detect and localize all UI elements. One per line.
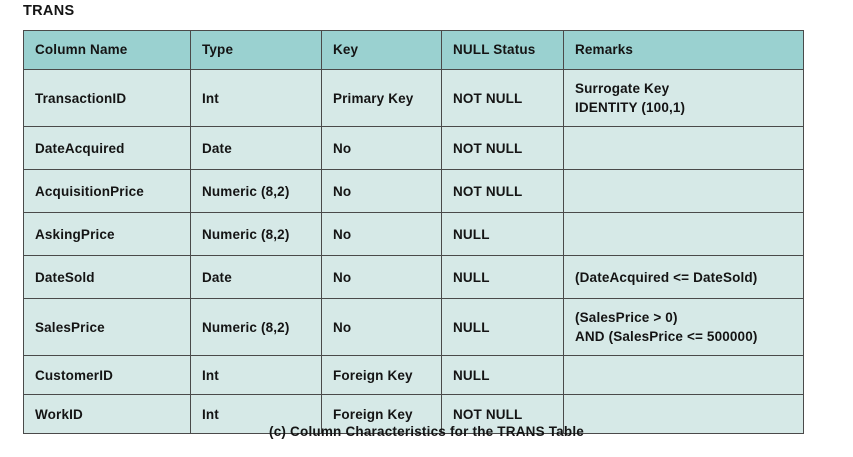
cell-column-name: CustomerID	[24, 356, 191, 395]
table-row: CustomerID Int Foreign Key NULL	[24, 356, 804, 395]
cell-type: Numeric (8,2)	[191, 213, 322, 256]
cell-type: Numeric (8,2)	[191, 299, 322, 356]
remark-line-1: Surrogate Key	[575, 79, 803, 98]
cell-remarks	[564, 356, 804, 395]
cell-key: No	[322, 127, 442, 170]
cell-type: Date	[191, 256, 322, 299]
table-header-row: Column Name Type Key NULL Status Remarks	[24, 31, 804, 70]
cell-remarks: Surrogate Key IDENTITY (100,1)	[564, 70, 804, 127]
cell-remarks	[564, 127, 804, 170]
table-row: DateAcquired Date No NOT NULL	[24, 127, 804, 170]
cell-type: Int	[191, 356, 322, 395]
column-header-key: Key	[322, 31, 442, 70]
column-header-remarks: Remarks	[564, 31, 804, 70]
cell-key: No	[322, 213, 442, 256]
cell-type: Int	[191, 70, 322, 127]
cell-column-name: TransactionID	[24, 70, 191, 127]
cell-column-name: DateAcquired	[24, 127, 191, 170]
table-header: Column Name Type Key NULL Status Remarks	[24, 31, 804, 70]
cell-column-name: SalesPrice	[24, 299, 191, 356]
remark-line-2: AND (SalesPrice <= 500000)	[575, 327, 803, 346]
cell-remarks: (SalesPrice > 0) AND (SalesPrice <= 5000…	[564, 299, 804, 356]
cell-column-name: AcquisitionPrice	[24, 170, 191, 213]
column-header-column-name: Column Name	[24, 31, 191, 70]
table-row: SalesPrice Numeric (8,2) No NULL (SalesP…	[24, 299, 804, 356]
cell-key: Foreign Key	[322, 356, 442, 395]
cell-key: Primary Key	[322, 70, 442, 127]
table-row: AcquisitionPrice Numeric (8,2) No NOT NU…	[24, 170, 804, 213]
cell-null-status: NOT NULL	[442, 127, 564, 170]
cell-type: Numeric (8,2)	[191, 170, 322, 213]
cell-null-status: NULL	[442, 256, 564, 299]
cell-null-status: NULL	[442, 299, 564, 356]
cell-type: Date	[191, 127, 322, 170]
cell-column-name: AskingPrice	[24, 213, 191, 256]
table-row: DateSold Date No NULL (DateAcquired <= D…	[24, 256, 804, 299]
cell-key: No	[322, 299, 442, 356]
cell-null-status: NOT NULL	[442, 170, 564, 213]
cell-key: No	[322, 170, 442, 213]
cell-key: No	[322, 256, 442, 299]
remark-line-1: (SalesPrice > 0)	[575, 308, 803, 327]
column-characteristics-table: Column Name Type Key NULL Status Remarks…	[23, 30, 804, 434]
table-row: TransactionID Int Primary Key NOT NULL S…	[24, 70, 804, 127]
cell-remarks: (DateAcquired <= DateSold)	[564, 256, 804, 299]
cell-remarks	[564, 213, 804, 256]
page-title: TRANS	[23, 3, 74, 19]
remark-line-2: IDENTITY (100,1)	[575, 98, 803, 117]
cell-null-status: NOT NULL	[442, 70, 564, 127]
figure-caption: (c) Column Characteristics for the TRANS…	[0, 424, 853, 439]
column-header-null-status: NULL Status	[442, 31, 564, 70]
table-body: TransactionID Int Primary Key NOT NULL S…	[24, 70, 804, 434]
table-row: AskingPrice Numeric (8,2) No NULL	[24, 213, 804, 256]
cell-column-name: DateSold	[24, 256, 191, 299]
column-header-type: Type	[191, 31, 322, 70]
cell-null-status: NULL	[442, 356, 564, 395]
cell-null-status: NULL	[442, 213, 564, 256]
cell-remarks	[564, 170, 804, 213]
remark-line-1: (DateAcquired <= DateSold)	[575, 268, 803, 287]
